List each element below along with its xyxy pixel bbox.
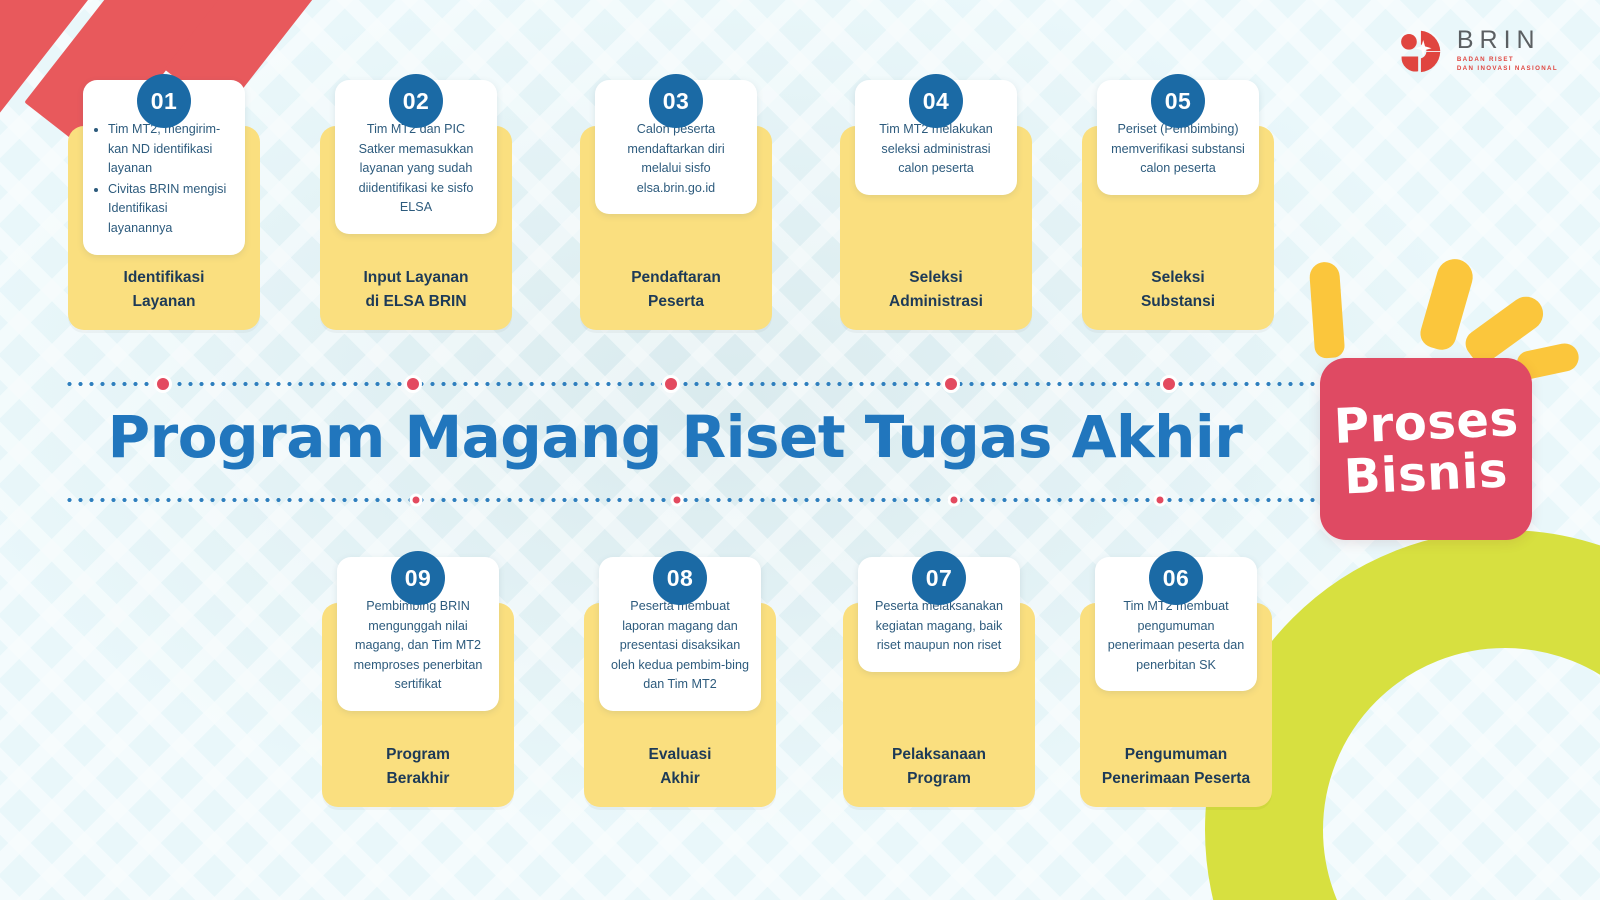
proses-bisnis-line-2: Bisnis [1343,446,1509,502]
timeline-node [671,494,684,507]
brin-wordmark: BRIN [1457,28,1558,53]
step-card-description: Calon peserta mendaftarkan diri melalui … [607,120,745,198]
step-number-badge: 04 [909,74,963,128]
timeline-rail-bottom [64,497,1390,503]
step-number-badge: 01 [137,74,191,128]
step-number-badge: 03 [649,74,703,128]
step-number-badge: 05 [1151,74,1205,128]
step-card-description: Tim MT2 membuat pengumuman penerimaan pe… [1107,597,1245,675]
step-number-badge: 08 [653,551,707,605]
step-card-bullet: Civitas BRIN mengisi Identifikasi layana… [108,180,233,239]
timeline-node [948,494,961,507]
step-card-09[interactable]: Program Berakhir09Pembimbing BRIN mengun… [322,557,514,711]
step-card-title: Pelaksanaan Program [843,731,1035,807]
spark-shape-4 [1309,261,1346,359]
step-card-content: 01Tim MT2, mengirim-kan ND identifikasi … [83,80,245,255]
timeline-node [1160,375,1178,393]
infographic-canvas: BRIN BADAN RISET DAN INOVASI NASIONAL Pr… [0,0,1600,900]
step-card-04[interactable]: Seleksi Administrasi04Tim MT2 melakukan … [840,80,1032,195]
timeline-node [154,375,172,393]
step-card-title: Program Berakhir [322,731,514,807]
step-card-title: Seleksi Substansi [1082,254,1274,330]
step-card-title: Identifikasi Layanan [68,254,260,330]
step-number-badge: 02 [389,74,443,128]
timeline-node [404,375,422,393]
step-card-content: 04Tim MT2 melakukan seleksi administrasi… [855,80,1017,195]
step-card-description: Periset (Pembimbing) memverifikasi subst… [1109,120,1247,179]
step-card-title: Pendaftaran Peserta [580,254,772,330]
step-number-badge: 07 [912,551,966,605]
step-card-description: Pembimbing BRIN mengunggah nilai magang,… [349,597,487,695]
step-number-badge: 09 [391,551,445,605]
step-card-content: 09Pembimbing BRIN mengunggah nilai magan… [337,557,499,711]
step-card-bullet: Tim MT2, mengirim-kan ND identifikasi la… [108,120,233,179]
step-card-content: 06Tim MT2 membuat pengumuman penerimaan … [1095,557,1257,691]
step-card-08[interactable]: Evaluasi Akhir08Peserta membuat laporan … [584,557,776,711]
step-card-02[interactable]: Input Layanan di ELSA BRIN02Tim MT2 dan … [320,80,512,234]
step-card-title: Input Layanan di ELSA BRIN [320,254,512,330]
step-card-description: Tim MT2 dan PIC Satker memasukkan layana… [347,120,485,218]
step-card-content: 08Peserta membuat laporan magang dan pre… [599,557,761,711]
step-card-title: Seleksi Administrasi [840,254,1032,330]
step-card-03[interactable]: Pendaftaran Peserta03Calon peserta menda… [580,80,772,214]
proses-bisnis-badge: Proses Bisnis [1320,358,1532,540]
step-card-title: Pengumuman Penerimaan Peserta [1080,731,1272,807]
brin-logo: BRIN BADAN RISET DAN INOVASI NASIONAL [1397,28,1558,74]
step-card-content: 03Calon peserta mendaftarkan diri melalu… [595,80,757,214]
timeline-node [410,494,423,507]
step-number-badge: 06 [1149,551,1203,605]
step-card-content: 07Peserta melaksanakan kegiatan magang, … [858,557,1020,672]
step-card-content: 05Periset (Pembimbing) memverifikasi sub… [1097,80,1259,195]
step-card-description: Peserta melaksanakan kegiatan magang, ba… [870,597,1008,656]
step-card-description: Tim MT2 melakukan seleksi administrasi c… [867,120,1005,179]
step-card-content: 02Tim MT2 dan PIC Satker memasukkan laya… [335,80,497,234]
step-card-description: Peserta membuat laporan magang dan prese… [611,597,749,695]
timeline-node [1154,494,1167,507]
stripe-1 [0,0,2,173]
brin-tagline: BADAN RISET DAN INOVASI NASIONAL [1457,56,1558,74]
brin-mark-icon [1397,28,1443,74]
step-card-06[interactable]: Pengumuman Penerimaan Peserta06Tim MT2 m… [1080,557,1272,691]
timeline-rail-top [64,381,1390,387]
step-card-title: Evaluasi Akhir [584,731,776,807]
brin-wordmark-block: BRIN BADAN RISET DAN INOVASI NASIONAL [1457,28,1558,74]
step-card-07[interactable]: Pelaksanaan Program07Peserta melaksanaka… [843,557,1035,672]
step-card-bullet-list: Tim MT2, mengirim-kan ND identifikasi la… [95,120,233,238]
timeline-node [662,375,680,393]
step-card-05[interactable]: Seleksi Substansi05Periset (Pembimbing) … [1082,80,1274,195]
timeline-node [942,375,960,393]
step-card-01[interactable]: Identifikasi Layanan01Tim MT2, mengirim-… [68,80,260,255]
